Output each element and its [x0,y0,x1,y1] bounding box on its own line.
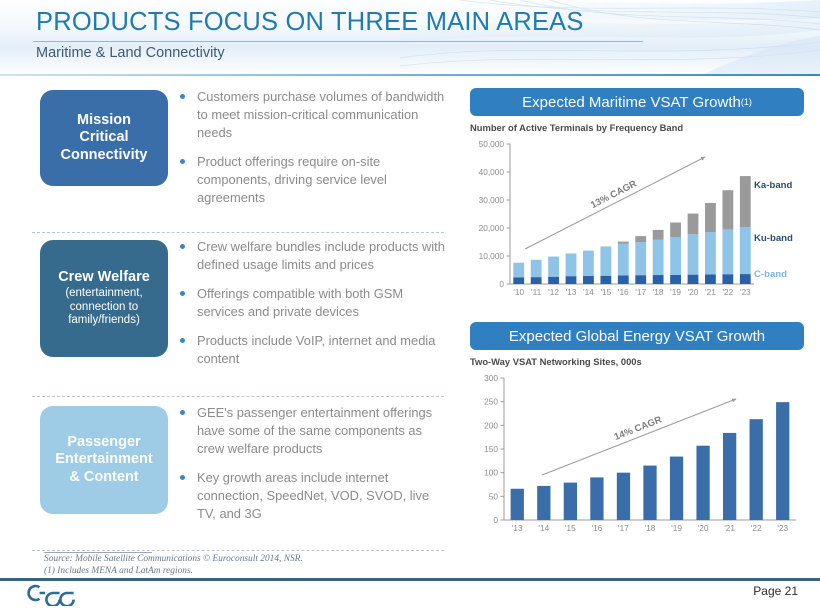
svg-text:'19: '19 [670,287,681,297]
bar-segment [566,253,577,276]
section-passenger-entertainment: Passenger Entertainment & Content GEE's … [0,400,455,548]
bar [723,433,736,520]
category-title-line: Entertainment [55,451,153,467]
bullet-text: GEE's passenger entertainment offerings … [197,405,432,456]
svg-text:30,000: 30,000 [479,195,505,205]
section-crew-welfare: Crew Welfare (entertainment, connection … [0,234,455,392]
bar-segment [670,223,681,238]
bar-segment [670,237,681,275]
bar-segment [583,276,594,284]
legend-label: C-band [754,269,787,280]
list-item: Products include VoIP, internet and medi… [178,332,446,368]
bar [670,457,683,520]
product-areas-column: Mission Critical Connectivity Customers … [0,84,455,549]
bullet-text: Customers purchase volumes of bandwidth … [197,89,444,140]
bullet-text: Products include VoIP, internet and medi… [197,333,435,366]
chart-subtitle-maritime: Number of Active Terminals by Frequency … [470,122,683,133]
svg-text:'20: '20 [698,523,709,533]
svg-text:'22: '22 [722,287,733,297]
bar-segment [722,274,733,284]
section-divider-3 [32,550,444,551]
slide: PRODUCTS FOCUS ON THREE MAIN AREAS Marit… [0,0,820,615]
list-item: Key growth areas include internet connec… [178,469,446,523]
chart-banner-energy: Expected Global Energy VSAT Growth [470,322,804,350]
svg-text:'10: '10 [513,287,524,297]
list-item: GEE's passenger entertainment offerings … [178,404,446,458]
svg-text:10,000: 10,000 [479,251,505,261]
svg-text:'15: '15 [565,523,576,533]
bullet-list-passenger-entertainment: GEE's passenger entertainment offerings … [178,404,446,523]
section-mission-critical: Mission Critical Connectivity Customers … [0,84,455,226]
bar-segment [653,275,664,284]
category-title-line: & Content [69,469,138,485]
bar-segment [722,229,733,274]
category-title-crew-welfare: Crew Welfare [58,269,150,286]
section-divider-1 [32,232,444,233]
list-item: Crew welfare bundles include products wi… [178,238,446,274]
cagr-annotation: 14% CAGR [613,414,664,443]
svg-text:150: 150 [484,444,498,454]
bar-segment [653,240,664,275]
svg-text:'21: '21 [705,287,716,297]
bar-segment [722,190,733,229]
bullet-list-mission-critical: Customers purchase volumes of bandwidth … [178,88,446,207]
source-rule [44,552,152,553]
bar-segment [635,275,646,284]
gee-logo [26,580,96,606]
legend-label: Ku-band [754,233,793,244]
svg-text:'13: '13 [566,287,577,297]
svg-text:50,000: 50,000 [479,139,505,149]
bullet-dot-icon [180,244,185,249]
bar-segment [740,227,751,274]
svg-text:'17: '17 [635,287,646,297]
footer-rule [0,578,820,581]
bar-segment [618,275,629,284]
list-item: Offerings compatible with both GSM servi… [178,285,446,321]
svg-text:0: 0 [499,279,504,289]
list-item: Customers purchase volumes of bandwidth … [178,88,446,142]
svg-text:'23: '23 [740,287,751,297]
svg-text:250: 250 [484,397,498,407]
bullet-text: Offerings compatible with both GSM servi… [197,286,403,319]
svg-text:'11: '11 [531,287,542,297]
title-underline [33,41,643,42]
svg-text:0: 0 [493,515,498,525]
bar-segment [531,277,542,284]
chart-maritime-vsat-growth: 010,00020,00030,00040,00050,000'10'11'12… [462,136,812,308]
bullet-dot-icon [180,410,185,415]
bar-segment [600,247,611,248]
bar-segment [548,257,559,277]
category-subtitle-crew-welfare: (entertainment, connection to family/fri… [47,287,161,328]
section-divider-2 [32,396,444,397]
svg-text:200: 200 [484,420,498,430]
header-bottom-rule [0,74,820,76]
chart-banner-energy-label: Expected Global Energy VSAT Growth [509,328,765,345]
bar-segment [513,277,524,284]
bar-segment [653,230,664,240]
svg-text:40,000: 40,000 [479,167,505,177]
bar-segment [531,260,542,277]
bar-segment [740,274,751,284]
bullet-text: Key growth areas include internet connec… [197,470,429,521]
bar [643,466,656,520]
category-title-line: Connectivity [60,147,147,163]
bar [617,473,630,520]
bullet-dot-icon [180,159,185,164]
bar-segment [705,203,716,232]
svg-text:'16: '16 [591,523,602,533]
source-note-2: (1) Includes MENA and LatAm regions. [44,566,193,576]
svg-text:300: 300 [484,373,498,383]
bar [696,446,709,520]
bar-segment [635,236,646,242]
bar [511,489,524,520]
bar-segment [600,247,611,276]
svg-text:'15: '15 [600,287,611,297]
category-box-mission-critical[interactable]: Mission Critical Connectivity [40,90,168,186]
svg-text:'20: '20 [688,287,699,297]
bullet-dot-icon [180,338,185,343]
bar [776,402,789,520]
footnote-marker: (1) [741,97,752,107]
chart-banner-maritime-label: Expected Maritime VSAT Growth [522,94,741,111]
svg-text:'23: '23 [777,523,788,533]
svg-text:'16: '16 [618,287,629,297]
page-subtitle: Maritime & Land Connectivity [36,45,225,61]
chart-banner-maritime: Expected Maritime VSAT Growth(1) [470,88,804,116]
bar-segment [618,244,629,276]
bar-segment [566,276,577,284]
category-title-line: Mission [77,112,131,128]
category-title-mission-critical: Mission Critical Connectivity [60,112,147,163]
svg-text:100: 100 [484,468,498,478]
category-title-line: Passenger [67,434,140,450]
bullet-text: Crew welfare bundles include products wi… [197,239,445,272]
charts-column: Expected Maritime VSAT Growth(1) Number … [462,84,812,549]
svg-text:'19: '19 [671,523,682,533]
bullet-list-crew-welfare: Crew welfare bundles include products wi… [178,238,446,368]
svg-text:'14: '14 [583,287,594,297]
bullet-dot-icon [180,291,185,296]
bar [564,483,577,520]
chart-global-energy-vsat-growth: 050100150200250300'13'14'15'16'17'18'19'… [462,370,812,548]
list-item: Product offerings require on-site compon… [178,153,446,207]
source-note-1: Source: Mobile Satellite Communications … [44,554,303,564]
bar-segment [600,276,611,284]
bar-segment [548,277,559,284]
chart-subtitle-energy: Two-Way VSAT Networking Sites, 000s [470,356,642,367]
category-box-passenger-entertainment[interactable]: Passenger Entertainment & Content [40,406,168,514]
bar-segment [740,176,751,227]
bar [750,419,763,520]
bullet-text: Product offerings require on-site compon… [197,154,387,205]
page-title: PRODUCTS FOCUS ON THREE MAIN AREAS [36,8,584,37]
svg-text:20,000: 20,000 [479,223,505,233]
bar-segment [688,275,699,284]
svg-text:'18: '18 [653,287,664,297]
svg-text:'22: '22 [751,523,762,533]
bar-segment [705,232,716,274]
bar-segment [583,251,594,276]
bullet-dot-icon [180,94,185,99]
svg-text:'13: '13 [512,523,523,533]
bar [590,477,603,520]
bar [537,486,550,520]
legend-label: Ka-band [754,180,793,191]
bar-segment [618,242,629,244]
bar-segment [688,214,699,235]
bar-segment [513,263,524,278]
svg-text:'21: '21 [724,523,735,533]
svg-text:50: 50 [489,491,499,501]
page-number: Page 21 [753,584,798,598]
bar-segment [670,275,681,284]
svg-text:'17: '17 [618,523,629,533]
bar-segment [635,242,646,275]
svg-text:'18: '18 [645,523,656,533]
svg-text:'14: '14 [538,523,549,533]
bar-segment [705,274,716,284]
svg-text:'12: '12 [548,287,559,297]
slide-header: PRODUCTS FOCUS ON THREE MAIN AREAS Marit… [0,0,820,76]
bar-segment [688,234,699,274]
bullet-dot-icon [180,475,185,480]
category-title-passenger-entertainment: Passenger Entertainment & Content [55,434,153,485]
category-title-line: Critical [79,129,128,145]
category-box-crew-welfare[interactable]: Crew Welfare (entertainment, connection … [40,240,168,357]
